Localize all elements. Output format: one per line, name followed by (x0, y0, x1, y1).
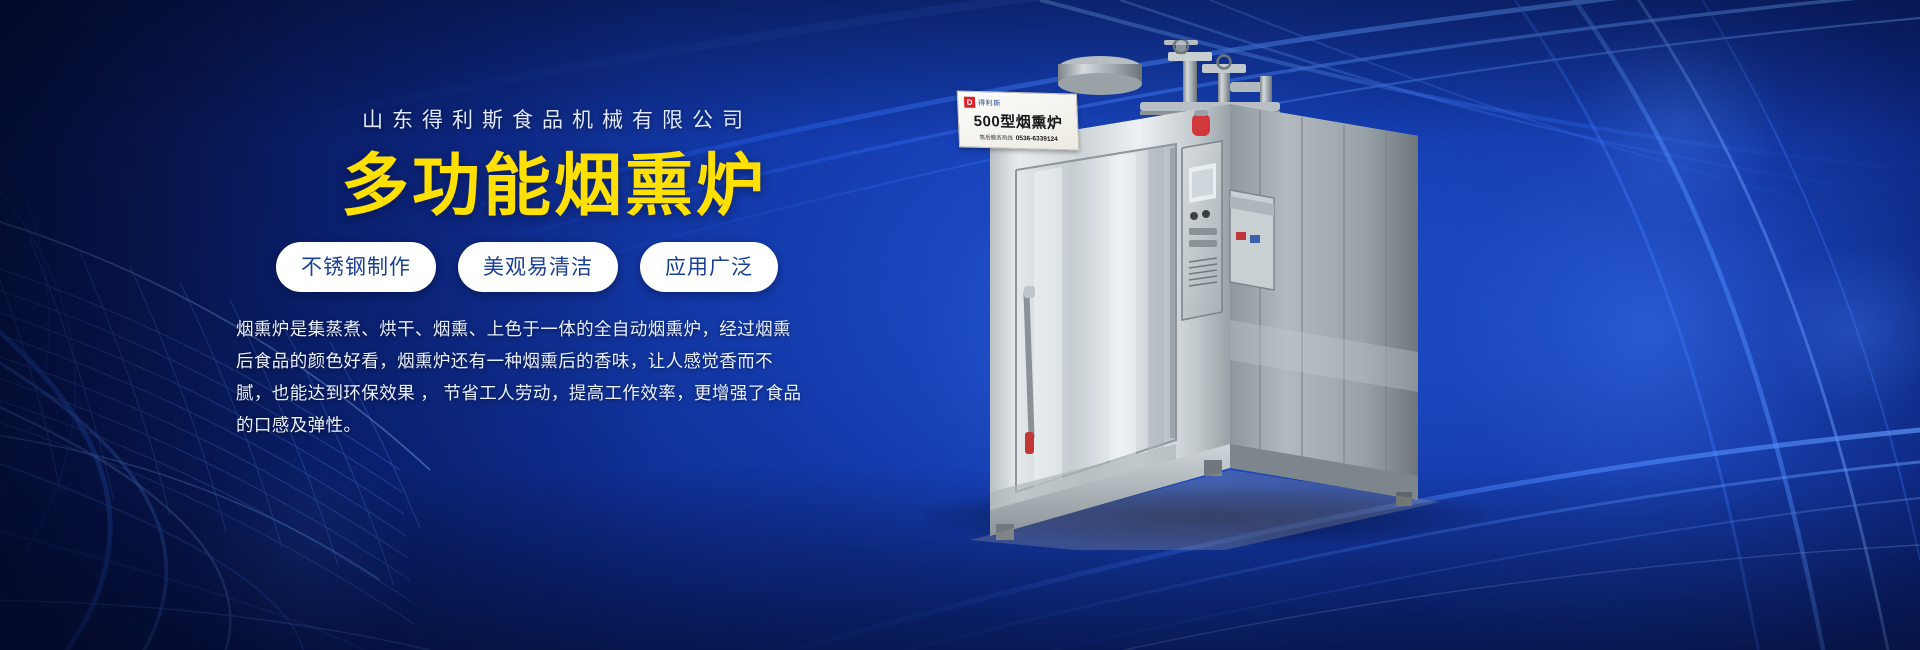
nameplate-logo: D 得利斯 (964, 97, 1071, 111)
banner-description: 烟熏炉是集蒸煮、烘干、烟熏、上色于一体的全自动烟熏炉，经过烟熏后食品的颜色好看，… (236, 314, 808, 441)
oven-nameplate: D 得利斯 500型烟熏炉 售后服务热线 0536-6339124 (957, 90, 1080, 150)
feature-badge-list: 不锈钢制作 美观易清洁 应用广泛 (236, 242, 836, 292)
nameplate-plate: D 得利斯 500型烟熏炉 售后服务热线 0536-6339124 (957, 90, 1080, 150)
brand-name: 得利斯 (978, 97, 1001, 108)
oven-right-side (1230, 104, 1418, 480)
brand-mark-icon: D (964, 97, 976, 108)
junction-box (1230, 190, 1274, 290)
service-hotline-number: 0536-6339124 (1016, 135, 1058, 143)
alarm-beacon-light (1192, 114, 1210, 136)
company-name: 山东得利斯食品机械有限公司 (236, 104, 836, 134)
banner-headline: 多功能烟熏炉 (236, 148, 836, 224)
feature-badge[interactable]: 应用广泛 (640, 242, 778, 292)
feature-badge[interactable]: 不锈钢制作 (276, 242, 436, 292)
promo-banner: D 得利斯 500型烟熏炉 售后服务热线 0536-6339124 山东得利斯食… (0, 0, 1920, 650)
banner-text-block: 山东得利斯食品机械有限公司 多功能烟熏炉 不锈钢制作 美观易清洁 应用广泛 烟熏… (236, 104, 836, 442)
nameplate-service: 售后服务热线 0536-6339124 (965, 133, 1072, 144)
service-hotline-label: 售后服务热线 (980, 133, 1013, 142)
nameplate-model: 500型烟熏炉 (964, 110, 1071, 134)
feature-badge[interactable]: 美观易清洁 (458, 242, 618, 292)
